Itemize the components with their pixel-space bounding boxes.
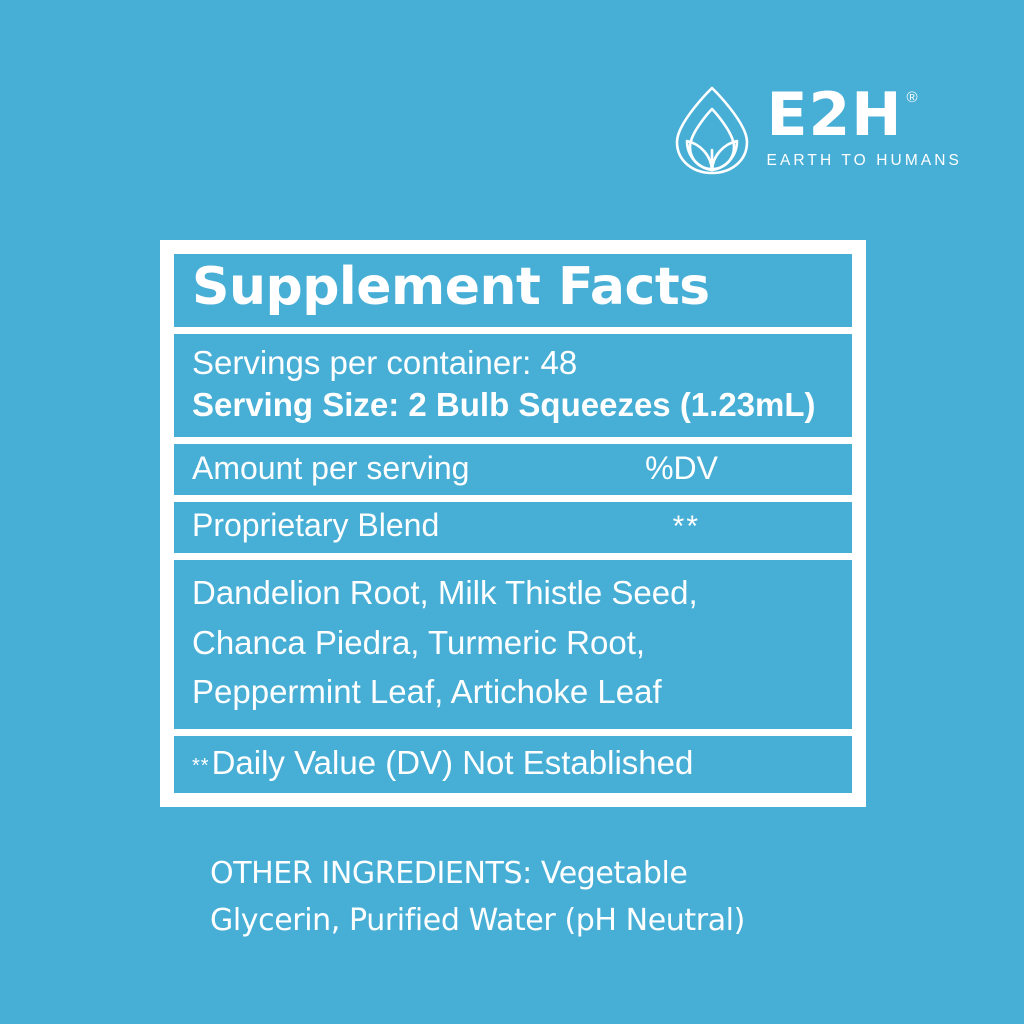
percent-dv-label: %DV bbox=[645, 449, 834, 488]
water-droplet-leaf-icon bbox=[671, 84, 753, 176]
amount-per-serving-header-row: Amount per serving %DV bbox=[174, 444, 852, 495]
footnote-marker: ** bbox=[192, 755, 210, 777]
brand-wordmark: E2H bbox=[767, 86, 903, 145]
registered-trademark-icon: ® bbox=[906, 90, 917, 105]
proprietary-blend-label: Proprietary Blend bbox=[192, 506, 439, 545]
other-ingredients-line: OTHER INGREDIENTS: Vegetable bbox=[210, 850, 910, 897]
ingredient-line: Chanca Piedra, Turmeric Root, bbox=[192, 618, 834, 668]
ingredient-line: Dandelion Root, Milk Thistle Seed, bbox=[192, 568, 834, 618]
supplement-facts-panel: Supplement Facts Servings per container:… bbox=[160, 240, 866, 807]
other-ingredients-line: Glycerin, Purified Water (pH Neutral) bbox=[210, 897, 910, 944]
proprietary-blend-row: Proprietary Blend ** bbox=[174, 502, 852, 554]
ingredient-line: Peppermint Leaf, Artichoke Leaf bbox=[192, 667, 834, 717]
ingredients-row: Dandelion Root, Milk Thistle Seed, Chanc… bbox=[174, 560, 852, 729]
amount-per-serving-label: Amount per serving bbox=[192, 449, 469, 488]
serving-size: Serving Size: 2 Bulb Squeezes (1.23mL) bbox=[192, 384, 834, 426]
footnote-label: Daily Value (DV) Not Established bbox=[212, 744, 694, 781]
brand-tagline: EARTH TO HUMANS bbox=[767, 152, 963, 170]
proprietary-blend-value: ** bbox=[673, 509, 834, 546]
daily-value-footnote-row: **Daily Value (DV) Not Established bbox=[174, 736, 852, 793]
page-title: Supplement Facts bbox=[192, 260, 834, 315]
daily-value-footnote: **Daily Value (DV) Not Established bbox=[192, 742, 834, 783]
servings-row: Servings per container: 48 Serving Size:… bbox=[174, 334, 852, 436]
supplement-facts-title-row: Supplement Facts bbox=[174, 254, 852, 327]
brand-logo: E2H ® EARTH TO HUMANS bbox=[671, 82, 963, 176]
other-ingredients-block: OTHER INGREDIENTS: Vegetable Glycerin, P… bbox=[210, 850, 910, 945]
brand-text-block: E2H ® EARTH TO HUMANS bbox=[767, 82, 963, 170]
servings-per-container: Servings per container: 48 bbox=[192, 342, 834, 384]
